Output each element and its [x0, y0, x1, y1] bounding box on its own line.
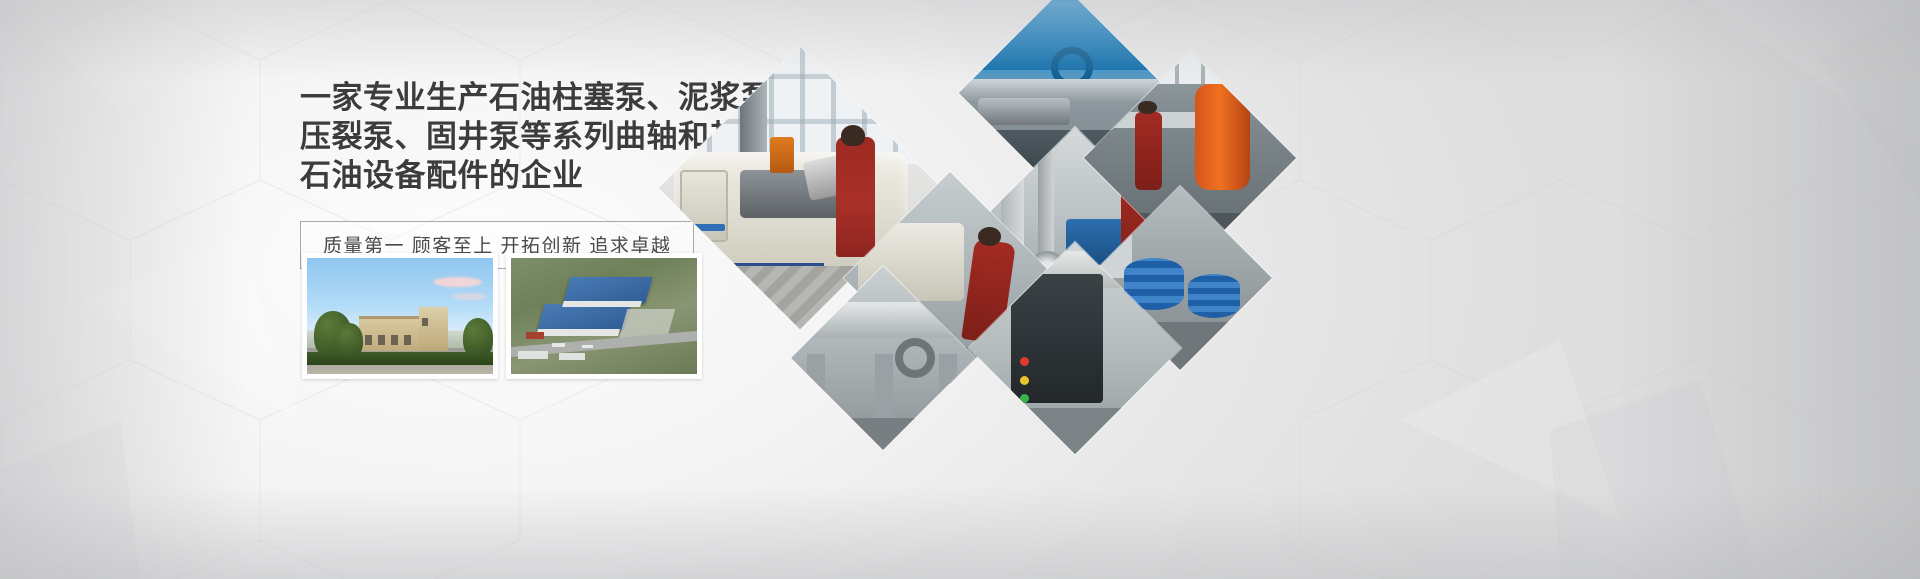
hero-text-block: 一家专业生产石油柱塞泵、泥浆泵、 压裂泵、固井泵等系列曲轴和其他 石油设备配件的… [300, 78, 720, 269]
hero-banner: 一家专业生产石油柱塞泵、泥浆泵、 压裂泵、固井泵等系列曲轴和其他 石油设备配件的… [0, 0, 1920, 579]
office-building-photo [302, 253, 498, 379]
headline-line-2: 压裂泵、固井泵等系列曲轴和其他 [300, 117, 720, 156]
photo-strip [302, 253, 702, 379]
headline-line-3: 石油设备配件的企业 [300, 156, 720, 195]
headline-line-1: 一家专业生产石油柱塞泵、泥浆泵、 [300, 78, 720, 117]
factory-aerial-photo [506, 253, 702, 379]
diamond-photo-collage [700, 18, 1300, 438]
